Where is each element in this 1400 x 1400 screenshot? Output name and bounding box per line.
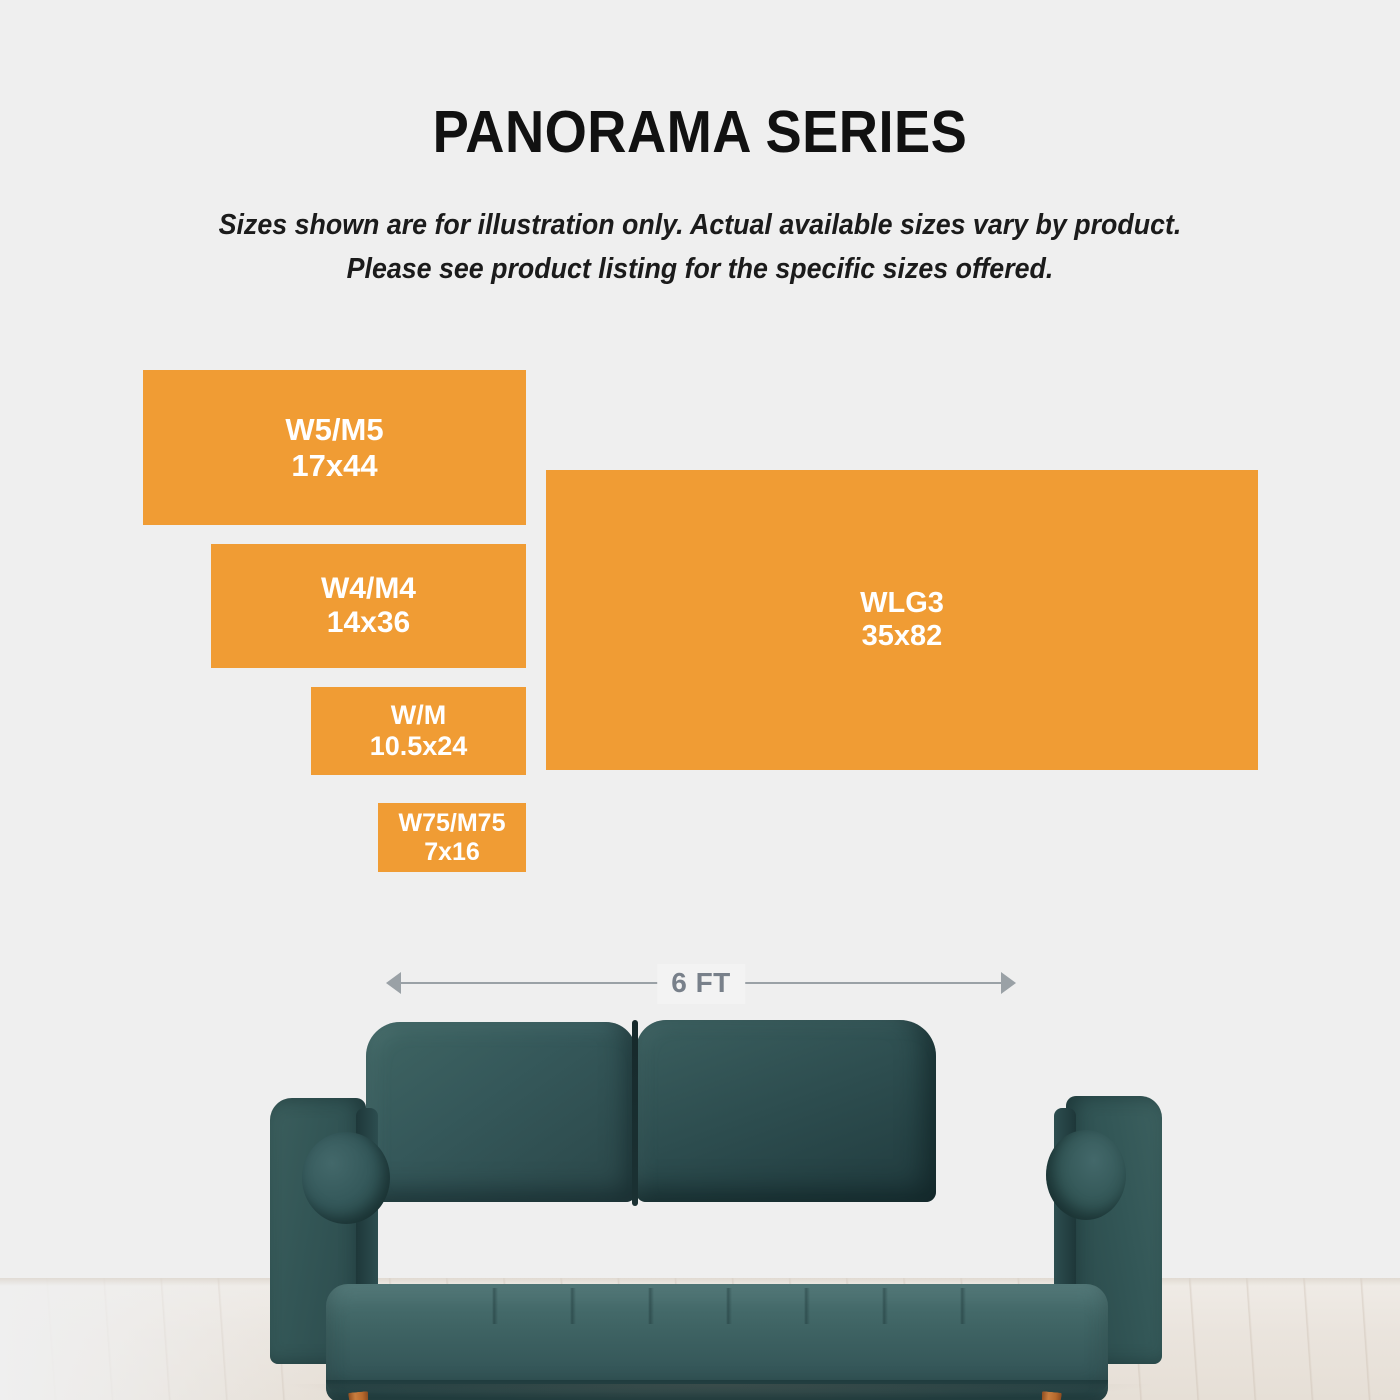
sofa-bolster-left xyxy=(302,1132,390,1224)
size-swatch-dims: 7x16 xyxy=(424,838,480,867)
sofa-back-cushion-right xyxy=(636,1020,936,1202)
sofa-scale-reference xyxy=(270,1012,1162,1400)
size-swatch-code: W75/M75 xyxy=(399,809,506,838)
scale-measurement-arrow: 6 FT xyxy=(386,963,1016,1003)
sofa-seat-tufting xyxy=(420,1288,1020,1324)
size-swatch-dims: 10.5x24 xyxy=(370,731,468,762)
size-swatch-dims: 14x36 xyxy=(327,606,410,640)
size-swatch-w5m5: W5/M5 17x44 xyxy=(143,370,526,525)
sofa-cushion-seam xyxy=(632,1020,638,1206)
subtitle-line-1: Sizes shown are for illustration only. A… xyxy=(183,203,1217,247)
subtitle-line-2: Please see product listing for the speci… xyxy=(183,247,1217,291)
size-swatch-w4m4: W4/M4 14x36 xyxy=(211,544,526,668)
arrow-right-icon xyxy=(1001,972,1016,994)
size-swatch-dims: 35x82 xyxy=(862,620,943,653)
size-swatch-code: W4/M4 xyxy=(321,572,416,606)
sofa-back-cushion-left xyxy=(366,1022,636,1202)
size-swatch-dims: 17x44 xyxy=(291,448,377,483)
subtitle-disclaimer: Sizes shown are for illustration only. A… xyxy=(183,203,1217,291)
size-chart-graphic: PANORAMA SERIES Sizes shown are for illu… xyxy=(0,0,1400,1400)
size-swatch-w75m75: W75/M75 7x16 xyxy=(378,803,526,872)
size-swatch-code: W5/M5 xyxy=(285,412,383,447)
page-title: PANORAMA SERIES xyxy=(56,98,1344,166)
sofa-bolster-right xyxy=(1046,1130,1126,1220)
size-swatch-code: W/M xyxy=(391,700,446,731)
size-swatch-wm: W/M 10.5x24 xyxy=(311,687,526,775)
sofa-contact-shadow xyxy=(280,1384,1160,1400)
measure-label: 6 FT xyxy=(657,964,745,1004)
size-swatch-code: WLG3 xyxy=(860,587,944,620)
size-swatch-wlg3: WLG3 35x82 xyxy=(546,470,1258,770)
